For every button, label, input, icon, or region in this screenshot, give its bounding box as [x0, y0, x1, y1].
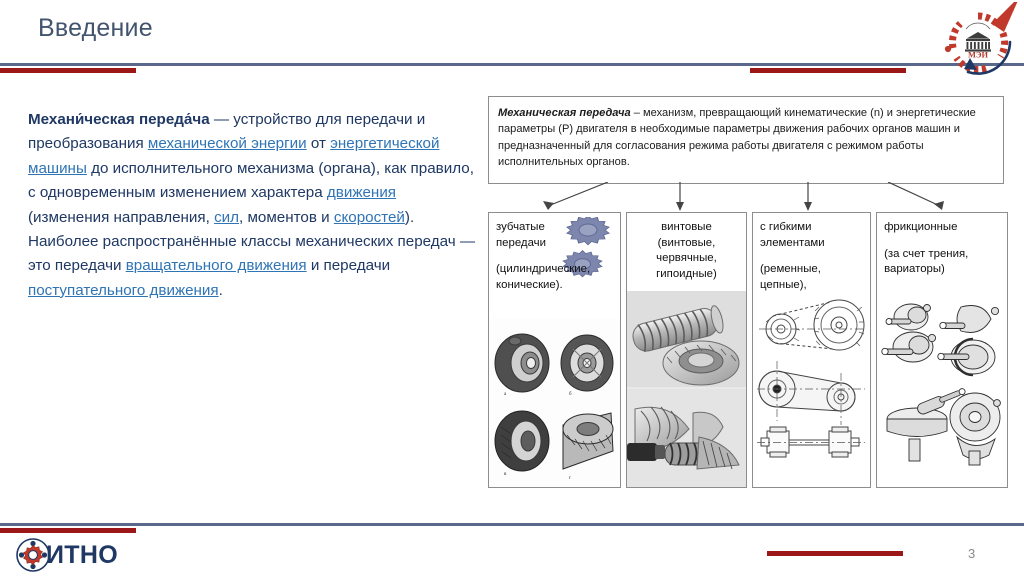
gear-drives-illustration: а б в — [489, 319, 620, 487]
category-1-sub: (цилиндрические, конические). — [489, 251, 620, 293]
itno-gear-icon — [16, 538, 50, 572]
definition-box: Механическая передача – механизм, превра… — [488, 96, 1004, 184]
category-4-heading: фрикционные — [877, 213, 1007, 236]
footer-accent-bar-right — [767, 551, 903, 556]
category-2-sub: (винтовые, червячные, гипоидные) — [627, 236, 746, 283]
svg-text:г: г — [569, 476, 571, 481]
worm-gear-illustration — [627, 291, 746, 487]
body-link-14[interactable]: поступательного движения — [28, 282, 219, 299]
belt-chain-illustration — [753, 289, 870, 479]
category-3-sub-line1: (ременные, — [760, 262, 863, 278]
body-link-6[interactable]: движения — [327, 184, 396, 201]
category-1-heading-line1: зубчатые — [496, 220, 613, 236]
body-link-2[interactable]: механической энергии — [148, 135, 307, 152]
footer-divider-blue — [0, 523, 1024, 526]
category-4-sub: (за счет трения, вариаторы) — [877, 236, 1007, 278]
header-divider-blue — [0, 63, 1024, 66]
body-text-run-15: . — [219, 282, 223, 299]
definition-term: Механическая передача — [498, 107, 631, 119]
category-2-heading: винтовые — [627, 213, 746, 236]
category-2-sub-line2: червячные, — [634, 251, 739, 267]
mechanical-transmission-diagram: Механическая передача – механизм, превра… — [488, 96, 1012, 488]
category-1-sub-line1: (цилиндрические, — [496, 262, 613, 278]
category-3-sub-line2: цепные), — [760, 278, 863, 294]
category-3-heading: с гибкими элементами — [753, 213, 870, 251]
category-2-sub-line3: гипоидные) — [634, 267, 739, 283]
page-number: 3 — [968, 546, 975, 561]
category-1-sub-line2: конические). — [496, 278, 613, 294]
header-accent-bar-right — [750, 68, 906, 73]
category-4-sub-line2: вариаторы) — [884, 262, 1000, 278]
body-link-10[interactable]: скоростей — [334, 209, 405, 226]
transmission-categories: зубчатые передачи (цилиндрические, конич… — [488, 212, 1008, 488]
body-text-run-3: от — [307, 135, 331, 152]
page-title: Введение — [38, 14, 153, 43]
footer-accent-bar-left — [0, 528, 136, 533]
category-3-heading-line2: элементами — [760, 236, 863, 252]
mei-university-logo: МЭИ — [936, 2, 1020, 82]
category-4-sub-line1: (за счет трения, — [884, 247, 1000, 263]
body-text-run-5: до исполнительного механизма (органа), к… — [28, 160, 474, 201]
category-flexible-drives: с гибкими элементами (ременные, цепные), — [752, 212, 871, 488]
friction-drive-illustration — [877, 291, 1007, 481]
body-link-12[interactable]: вращательного движения — [126, 257, 307, 274]
category-gear-drives: зубчатые передачи (цилиндрические, конич… — [488, 212, 621, 488]
definition-paragraph: Механи́ческая переда́ча — устройство для… — [28, 108, 480, 303]
svg-text:МЭИ: МЭИ — [968, 50, 989, 59]
itno-wordmark: ИТНО — [46, 541, 118, 570]
category-1-heading-line2: передачи — [496, 236, 613, 252]
body-text-run-13: и передачи — [307, 257, 391, 274]
category-3-heading-line1: с гибкими — [760, 220, 863, 236]
category-3-sub: (ременные, цепные), — [753, 251, 870, 293]
body-text-run-0: Механи́ческая переда́ча — [28, 111, 210, 128]
category-1-heading: зубчатые передачи — [489, 213, 620, 251]
header-accent-bar-left — [0, 68, 136, 73]
category-friction-drives: фрикционные (за счет трения, вариаторы) — [876, 212, 1008, 488]
body-link-8[interactable]: сил — [214, 209, 239, 226]
category-screw-drives: винтовые (винтовые, червячные, гипоидные… — [626, 212, 747, 488]
body-text-run-7: (изменения направления, — [28, 209, 214, 226]
category-2-sub-line1: (винтовые, — [634, 236, 739, 252]
diagram-connectors — [488, 182, 1012, 216]
body-text-run-9: , моментов и — [239, 209, 334, 226]
